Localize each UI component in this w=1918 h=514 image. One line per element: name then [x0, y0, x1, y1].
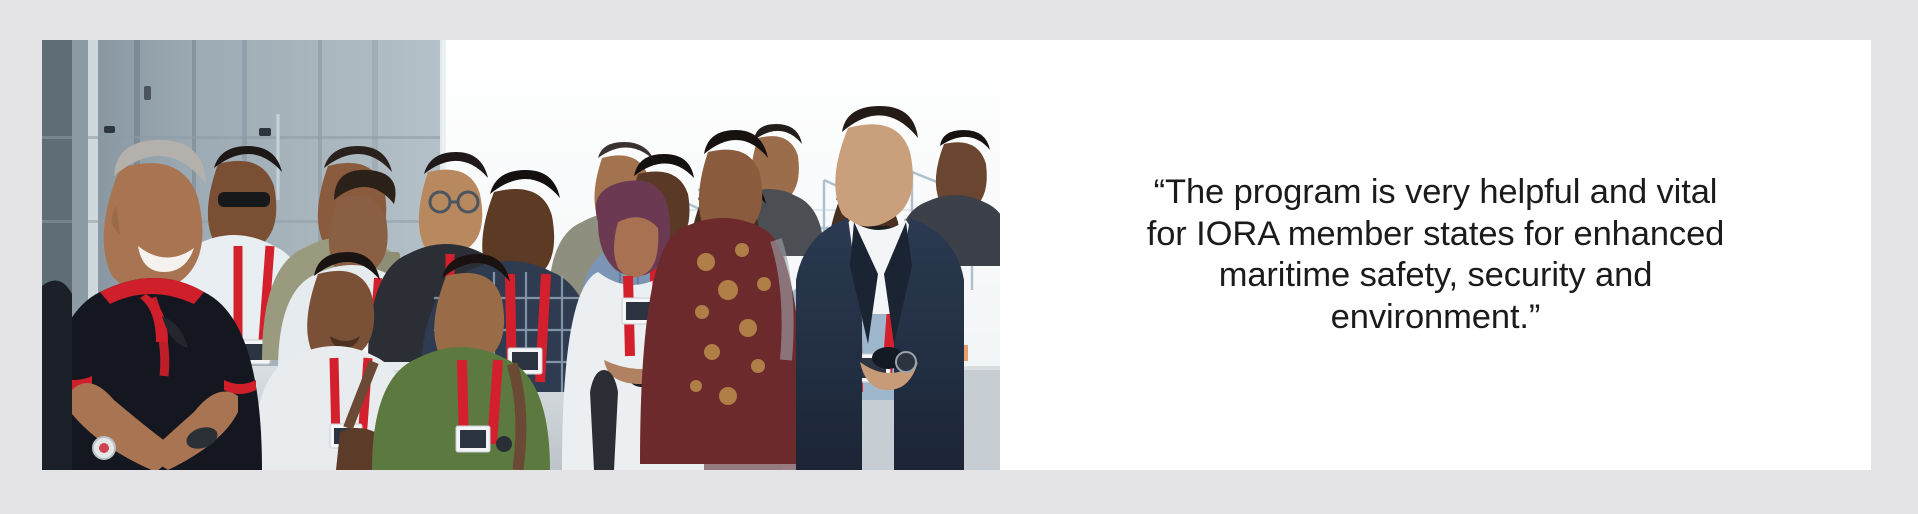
- testimonial-quote: “The program is very helpful and vital f…: [1106, 172, 1766, 338]
- group-photo: [42, 40, 1000, 470]
- group-photo-illustration: [42, 40, 1000, 470]
- testimonial-card: “The program is very helpful and vital f…: [42, 40, 1871, 470]
- slide-canvas: “The program is very helpful and vital f…: [0, 0, 1918, 514]
- quote-panel: “The program is very helpful and vital f…: [1000, 40, 1871, 470]
